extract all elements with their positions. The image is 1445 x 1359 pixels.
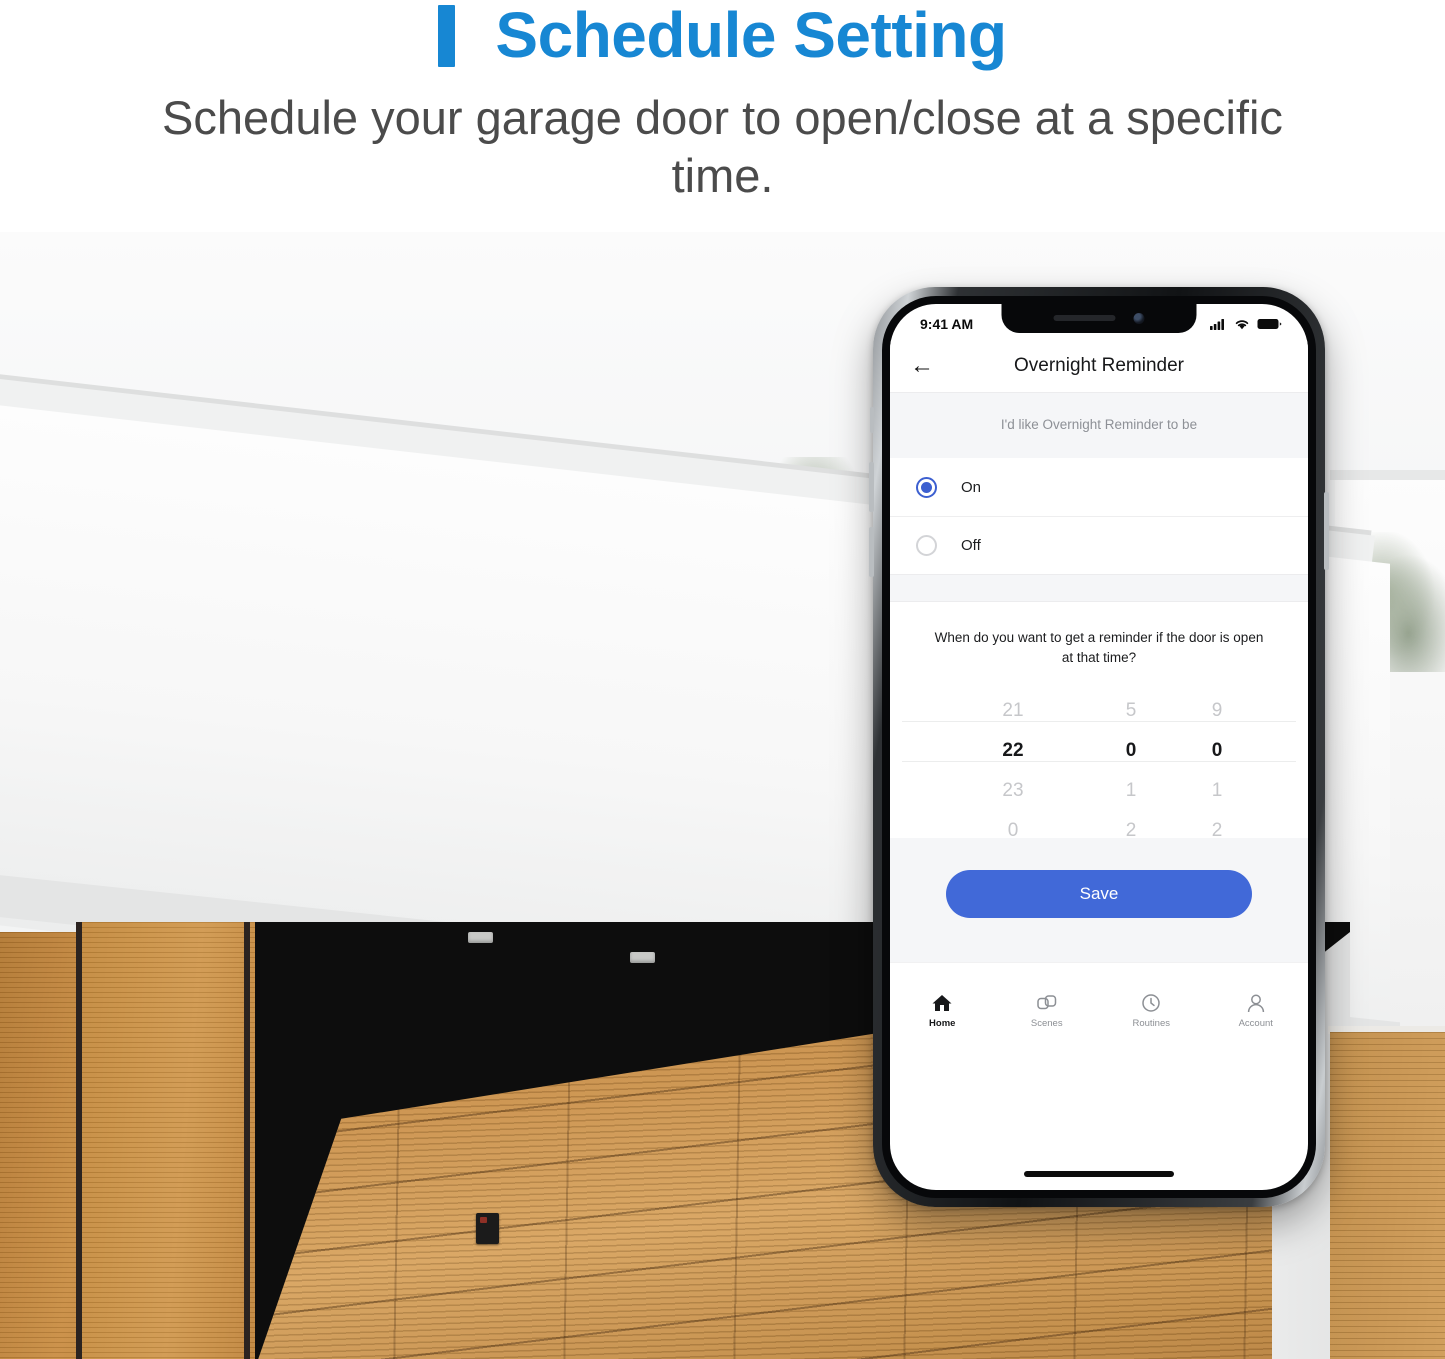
status-time: 9:41 AM <box>920 316 973 332</box>
title-row: Schedule Setting <box>0 0 1445 69</box>
option-label-off: Off <box>961 537 981 554</box>
volume-down-button[interactable] <box>869 527 874 577</box>
save-button[interactable]: Save <box>946 870 1252 918</box>
wifi-icon <box>1234 318 1250 330</box>
ceiling-light-1 <box>468 932 493 943</box>
picker-cell[interactable]: 9 <box>1212 691 1223 731</box>
status-icon-group <box>1210 318 1282 330</box>
ceiling-light-2 <box>630 952 655 963</box>
wood-wall-right <box>1330 1032 1445 1359</box>
save-area: Save <box>890 838 1308 962</box>
option-row-on[interactable]: On <box>890 458 1308 516</box>
app-nav-bar: ← Overnight Reminder <box>890 340 1308 392</box>
picker-cell[interactable]: 1 <box>1212 771 1223 811</box>
picker-highlight-line-top <box>902 721 1296 722</box>
tab-label-account: Account <box>1239 1018 1273 1029</box>
picker-cell[interactable]: 21 <box>1002 691 1023 731</box>
section-divider <box>890 574 1308 602</box>
tab-label-routines: Routines <box>1133 1018 1171 1029</box>
picker-cell-selected[interactable]: 0 <box>1126 731 1137 771</box>
tab-account[interactable]: Account <box>1204 991 1309 1029</box>
picker-cell[interactable]: 2 <box>1212 811 1223 851</box>
status-bar: 9:41 AM <box>890 304 1308 340</box>
screen-title: Overnight Reminder <box>890 355 1308 377</box>
wood-panel-seam-2 <box>244 922 250 1359</box>
wood-wall-panel-2 <box>80 922 255 1359</box>
volume-up-button[interactable] <box>869 462 874 512</box>
tab-routines[interactable]: Routines <box>1099 991 1204 1029</box>
radio-on-icon[interactable] <box>916 477 937 498</box>
title-accent-bar <box>438 5 455 67</box>
battery-icon <box>1257 318 1282 330</box>
picker-highlight-line-bottom <box>902 761 1296 762</box>
back-wall-cap <box>1330 470 1445 480</box>
silent-switch[interactable] <box>870 407 874 433</box>
home-indicator[interactable] <box>1024 1171 1174 1177</box>
picker-cell-selected[interactable]: 0 <box>1212 731 1223 771</box>
option-row-off[interactable]: Off <box>890 516 1308 574</box>
section-banner: I'd like Overnight Reminder to be <box>890 392 1308 458</box>
picker-cell[interactable]: 23 <box>1002 771 1023 811</box>
picker-question: When do you want to get a reminder if th… <box>890 602 1308 673</box>
page-title: Schedule Setting <box>495 2 1006 69</box>
radio-off-icon[interactable] <box>916 535 937 556</box>
back-arrow-icon[interactable]: ← <box>910 354 940 378</box>
phone-screen: 9:41 AM ← <box>890 304 1308 1190</box>
tab-scenes[interactable]: Scenes <box>995 991 1100 1029</box>
time-picker[interactable]: 21 22 23 0 5 0 1 2 9 0 1 2 <box>890 673 1308 838</box>
tab-home[interactable]: Home <box>890 991 995 1029</box>
picker-cell[interactable]: 0 <box>1008 811 1019 851</box>
tab-label-home: Home <box>929 1018 955 1029</box>
person-icon <box>1245 991 1267 1013</box>
clock-icon <box>1140 991 1162 1013</box>
option-label-on: On <box>961 479 981 496</box>
home-icon <box>931 991 953 1013</box>
bottom-tab-bar: Home Scenes Routines <box>890 962 1308 1048</box>
page-header: Schedule Setting Schedule your garage do… <box>0 0 1445 232</box>
phone-mockup: 9:41 AM ← <box>873 287 1325 1207</box>
wood-panel-seam <box>76 922 82 1359</box>
page-subtitle: Schedule your garage door to open/close … <box>0 89 1445 204</box>
garage-door-opener-plate <box>476 1213 499 1244</box>
picker-cell[interactable]: 5 <box>1126 691 1137 731</box>
picker-cell-selected[interactable]: 22 <box>1002 731 1023 771</box>
tab-label-scenes: Scenes <box>1031 1018 1063 1029</box>
scenes-icon <box>1036 991 1058 1013</box>
power-button[interactable] <box>1324 492 1329 570</box>
picker-cell[interactable]: 2 <box>1126 811 1137 851</box>
cellular-signal-icon <box>1210 318 1227 330</box>
picker-cell[interactable]: 1 <box>1126 771 1137 811</box>
